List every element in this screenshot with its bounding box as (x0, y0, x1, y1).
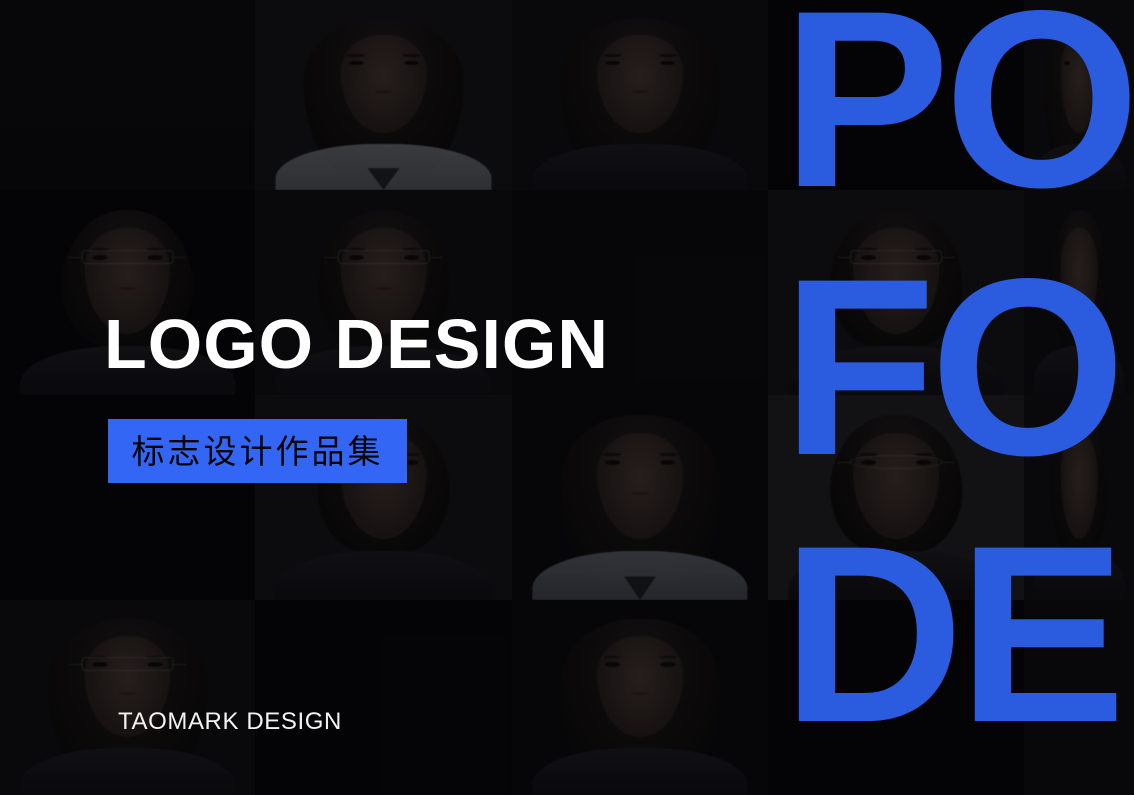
portrait-figure (540, 8, 740, 190)
photo-cell-r4c1 (0, 600, 255, 795)
page-title: LOGO DESIGN (104, 309, 609, 379)
brand-name: TAOMARK DESIGN (118, 708, 342, 736)
display-letters-row-2: FO (782, 277, 1120, 458)
display-letters-row-3: DE (782, 544, 1120, 725)
portrait-figure (283, 8, 483, 190)
photo-cell-r1c2 (255, 0, 512, 190)
photo-cell-r4c2 (255, 600, 512, 795)
photo-cell-r1c3 (512, 0, 768, 190)
subtitle-text: 标志设计作品集 (132, 435, 384, 468)
photo-cell-r1c1 (0, 0, 255, 190)
display-letters-row-1: PO (782, 9, 1134, 190)
photo-cell-r4c3 (512, 600, 768, 795)
subtitle-badge: 标志设计作品集 (108, 419, 407, 483)
portrait-figure (28, 608, 227, 795)
poster-canvas: PO FO DE LOGO DESIGN 标志设计作品集 TAOMARK DES… (0, 0, 1134, 795)
portrait-figure (540, 403, 740, 600)
photo-cell-r3c3 (512, 395, 768, 600)
portrait-figure (540, 608, 740, 795)
